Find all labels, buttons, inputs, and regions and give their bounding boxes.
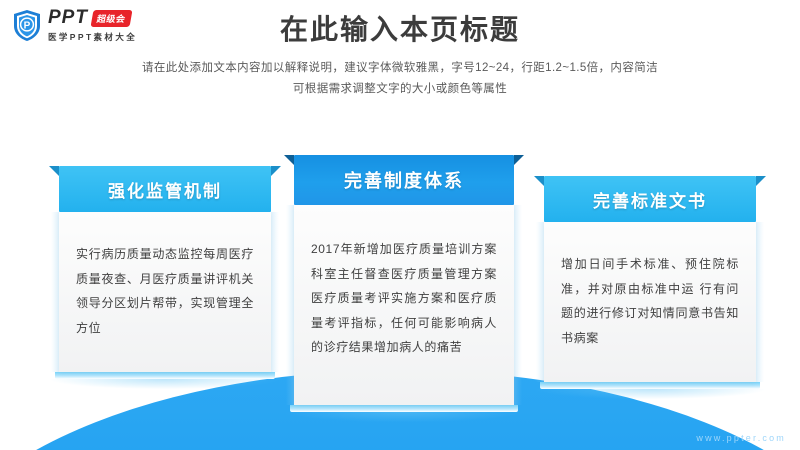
ribbon-fold-left-icon xyxy=(49,166,59,176)
card-1-footer-glow xyxy=(51,379,279,389)
card-1-ribbon-header: 强化监管机制 xyxy=(49,166,281,212)
subtitle-line-2: 可根据需求调整文字的大小或颜色等属性 xyxy=(0,79,800,100)
card-2-body: 2017年新增加医疗质量培训方案科室主任督查医疗质量管理方案医疗质量考评实施方案… xyxy=(294,205,514,405)
ribbon-fold-right-icon xyxy=(271,166,281,176)
brand-logo: P PPT 超级会 医学PPT素材大全 xyxy=(12,7,137,43)
logo-badge: 超级会 xyxy=(90,10,132,27)
ribbon-fold-left-icon xyxy=(284,155,294,165)
card-3-title: 完善标准文书 xyxy=(593,187,707,212)
logo-tagline: 医学PPT素材大全 xyxy=(48,31,137,43)
card-2-footer-bar xyxy=(290,405,518,412)
card-1-footer-bar xyxy=(55,372,275,379)
content-card-1[interactable]: 强化监管机制 实行病历质量动态监控每周医疗质量夜查、月医疗质量讲评机关领导分区划… xyxy=(49,166,281,389)
site-watermark: www.ppter.com xyxy=(696,433,786,443)
card-3-body: 增加日间手术标准、预住院标准，并对原由标准中运 行有问题的进行修订对知情同意书告… xyxy=(544,222,756,382)
subtitle-line-1: 请在此处添加文本内容加以解释说明，建议字体微软雅黑，字号12~24，行距1.2~… xyxy=(0,58,800,79)
card-2-footer-glow xyxy=(286,412,522,422)
shield-icon: P xyxy=(12,9,42,42)
card-3-ribbon-header: 完善标准文书 xyxy=(534,176,766,222)
card-1-body: 实行病历质量动态监控每周医疗质量夜查、月医疗质量讲评机关领导分区划片帮带，实现管… xyxy=(59,212,271,372)
content-card-3[interactable]: 完善标准文书 增加日间手术标准、预住院标准，并对原由标准中运 行有问题的进行修订… xyxy=(534,176,766,399)
card-1-title: 强化监管机制 xyxy=(108,177,222,202)
ribbon-fold-right-icon xyxy=(514,155,524,165)
ribbon-fold-left-icon xyxy=(534,176,544,186)
card-3-footer-bar xyxy=(540,382,760,389)
logo-wordmark: PPT xyxy=(48,7,88,29)
card-2-title: 完善制度体系 xyxy=(344,167,464,193)
content-card-2[interactable]: 完善制度体系 2017年新增加医疗质量培训方案科室主任督查医疗质量管理方案医疗质… xyxy=(284,155,524,422)
page-subtitle: 请在此处添加文本内容加以解释说明，建议字体微软雅黑，字号12~24，行距1.2~… xyxy=(0,58,800,101)
card-3-footer-glow xyxy=(536,389,764,399)
card-2-ribbon-header: 完善制度体系 xyxy=(284,155,524,205)
svg-text:P: P xyxy=(24,20,31,31)
ribbon-fold-right-icon xyxy=(756,176,766,186)
